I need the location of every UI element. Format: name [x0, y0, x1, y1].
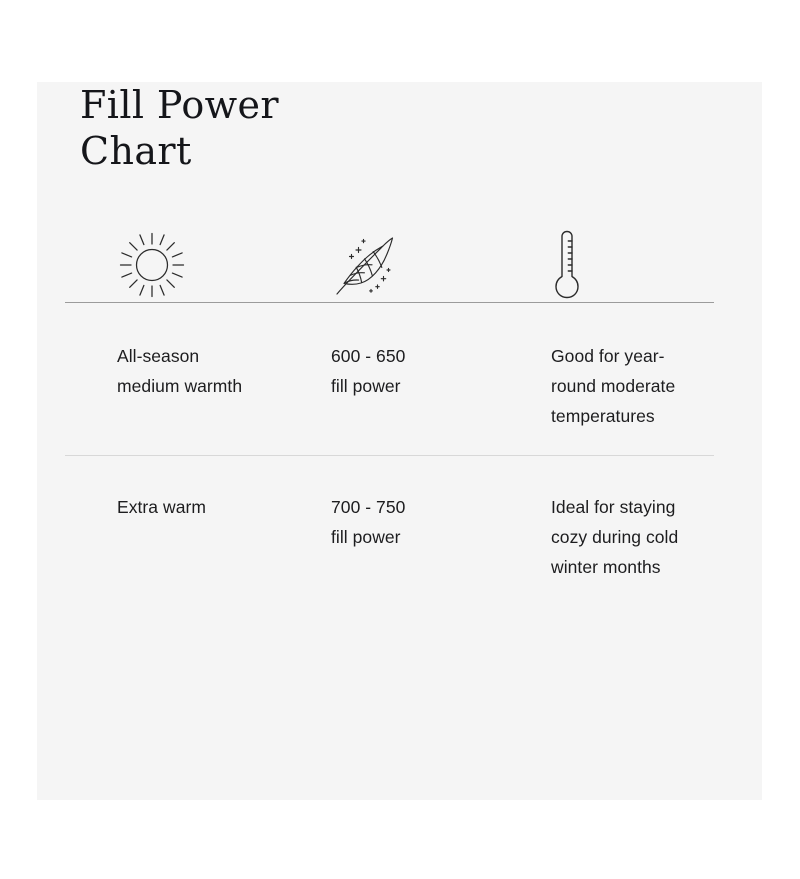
column-header-fill-power: [281, 228, 497, 300]
column-header-warmth: [65, 228, 281, 300]
table-row: Extra warm 700 - 750 fill power Ideal fo…: [65, 456, 745, 606]
sun-icon: [117, 228, 281, 300]
page-title: Fill Power Chart: [80, 82, 500, 174]
cell-description: Ideal for staying cozy during cold winte…: [497, 492, 713, 582]
cell-warmth: All-season medium warmth: [65, 341, 281, 431]
cell-fill-power: 600 - 650 fill power: [281, 341, 497, 431]
cell-fill-power: 700 - 750 fill power: [281, 492, 497, 582]
thermometer-icon: [551, 228, 713, 300]
table-icon-header-row: [65, 196, 745, 302]
cell-description: Good for year- round moderate temperatur…: [497, 341, 713, 431]
fill-power-chart-page: Fill Power Chart: [0, 0, 800, 879]
fill-power-table: All-season medium warmth 600 - 650 fill …: [65, 196, 745, 606]
column-header-temperature: [497, 228, 713, 300]
feather-sparkle-icon: [331, 228, 497, 300]
table-row: All-season medium warmth 600 - 650 fill …: [65, 303, 745, 455]
cell-warmth: Extra warm: [65, 492, 281, 582]
